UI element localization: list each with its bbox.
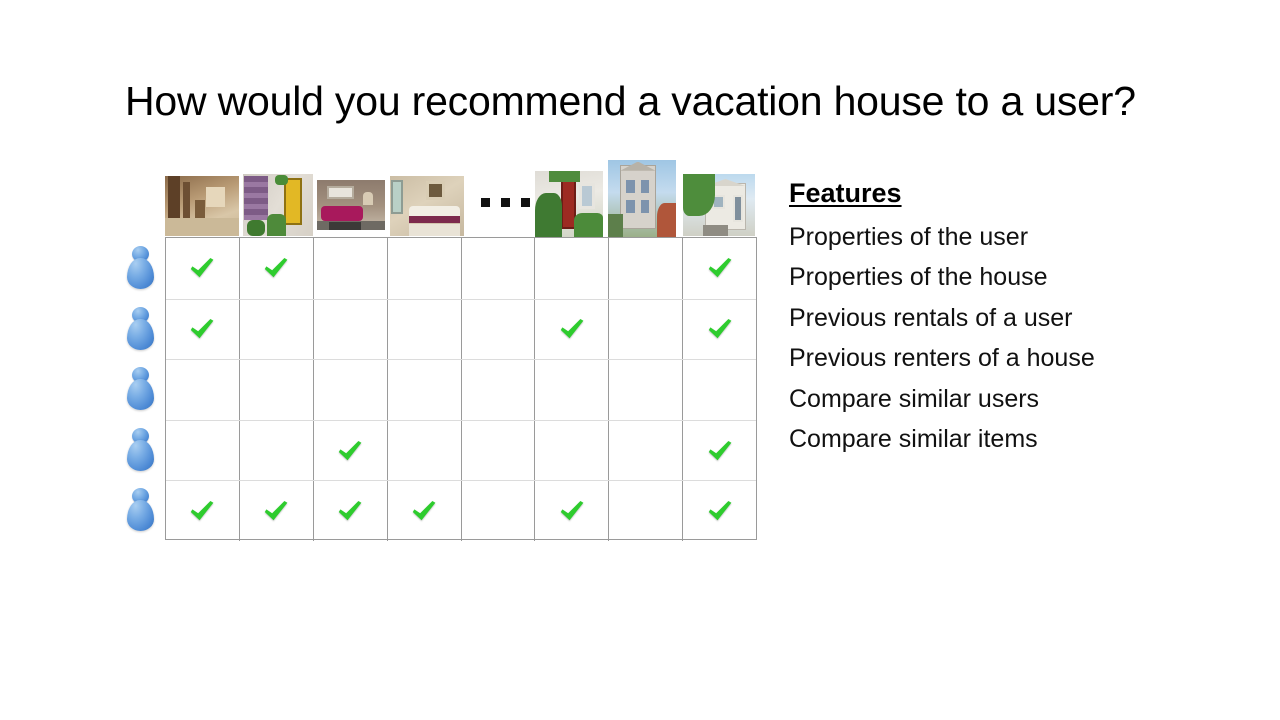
avatar-body bbox=[127, 258, 154, 289]
matrix-cell-r2c8[interactable] bbox=[682, 300, 756, 360]
matrix-cell-r4c4[interactable] bbox=[387, 421, 461, 481]
matrix-cell-r1c2[interactable] bbox=[239, 238, 313, 299]
user-avatar-icon-2 bbox=[124, 306, 157, 352]
matrix-cell-r2c5[interactable] bbox=[461, 300, 535, 360]
user-item-matrix bbox=[165, 237, 757, 540]
matrix-cell-r2c1[interactable] bbox=[166, 300, 239, 360]
matrix-cell-r5c5[interactable] bbox=[461, 481, 535, 541]
matrix-cell-r5c2[interactable] bbox=[239, 481, 313, 541]
matrix-cell-r3c7[interactable] bbox=[608, 360, 682, 420]
matrix-cell-r3c3[interactable] bbox=[313, 360, 387, 420]
matrix-cell-r4c7[interactable] bbox=[608, 421, 682, 481]
house-thumbnail-1 bbox=[165, 176, 239, 236]
user-avatar-icon-3 bbox=[124, 366, 157, 412]
check-icon bbox=[262, 254, 290, 282]
feature-item-6: Compare similar items bbox=[789, 419, 1209, 460]
matrix-cell-r2c7[interactable] bbox=[608, 300, 682, 360]
slide-canvas: How would you recommend a vacation house… bbox=[0, 0, 1280, 720]
feature-item-1: Properties of the user bbox=[789, 217, 1209, 258]
matrix-row-1 bbox=[166, 238, 756, 299]
matrix-cell-r5c8[interactable] bbox=[682, 481, 756, 541]
check-icon bbox=[188, 254, 216, 282]
check-icon bbox=[262, 497, 290, 525]
feature-item-3: Previous rentals of a user bbox=[789, 298, 1209, 339]
check-icon bbox=[336, 497, 364, 525]
avatar-body bbox=[127, 440, 154, 471]
check-icon bbox=[706, 315, 734, 343]
matrix-cell-r1c3[interactable] bbox=[313, 238, 387, 299]
ellipsis-dot bbox=[481, 198, 490, 207]
user-avatar-icon-5 bbox=[124, 487, 157, 533]
house-thumbnail-7 bbox=[683, 174, 755, 236]
matrix-cell-r3c4[interactable] bbox=[387, 360, 461, 420]
matrix-cell-r4c5[interactable] bbox=[461, 421, 535, 481]
matrix-cell-r2c6[interactable] bbox=[534, 300, 608, 360]
matrix-cell-r4c6[interactable] bbox=[534, 421, 608, 481]
check-icon bbox=[188, 497, 216, 525]
matrix-cell-r1c4[interactable] bbox=[387, 238, 461, 299]
matrix-cell-r1c5[interactable] bbox=[461, 238, 535, 299]
house-thumbnail-3 bbox=[317, 180, 385, 230]
page-title: How would you recommend a vacation house… bbox=[125, 78, 1165, 125]
matrix-row-2 bbox=[166, 299, 756, 360]
matrix-cell-r3c6[interactable] bbox=[534, 360, 608, 420]
check-icon bbox=[558, 315, 586, 343]
house-thumbnail-6 bbox=[608, 160, 676, 237]
matrix-cell-r3c5[interactable] bbox=[461, 360, 535, 420]
user-avatar-icon-1 bbox=[124, 245, 157, 291]
matrix-cell-r5c4[interactable] bbox=[387, 481, 461, 541]
matrix-cell-r3c8[interactable] bbox=[682, 360, 756, 420]
house-thumbnail-4 bbox=[390, 176, 464, 236]
ellipsis-dot bbox=[501, 198, 510, 207]
check-icon bbox=[188, 315, 216, 343]
matrix-cell-r3c1[interactable] bbox=[166, 360, 239, 420]
matrix-cell-r2c3[interactable] bbox=[313, 300, 387, 360]
check-icon bbox=[558, 497, 586, 525]
matrix-cell-r4c2[interactable] bbox=[239, 421, 313, 481]
matrix-cell-r1c7[interactable] bbox=[608, 238, 682, 299]
check-icon bbox=[706, 497, 734, 525]
matrix-cell-r4c1[interactable] bbox=[166, 421, 239, 481]
matrix-cell-r1c6[interactable] bbox=[534, 238, 608, 299]
matrix-cell-r2c4[interactable] bbox=[387, 300, 461, 360]
matrix-cell-r2c2[interactable] bbox=[239, 300, 313, 360]
matrix-cell-r4c8[interactable] bbox=[682, 421, 756, 481]
matrix-cell-r3c2[interactable] bbox=[239, 360, 313, 420]
user-avatar-icon-4 bbox=[124, 427, 157, 473]
check-icon bbox=[336, 437, 364, 465]
features-panel: Features Properties of the userPropertie… bbox=[789, 177, 1209, 460]
ellipsis-icon bbox=[481, 198, 530, 207]
house-thumbnail-2 bbox=[243, 174, 313, 236]
check-icon bbox=[706, 437, 734, 465]
features-heading: Features bbox=[789, 177, 1209, 211]
user-avatar-column bbox=[122, 237, 162, 540]
feature-item-5: Compare similar users bbox=[789, 379, 1209, 420]
matrix-cell-r1c1[interactable] bbox=[166, 238, 239, 299]
matrix-cell-r5c1[interactable] bbox=[166, 481, 239, 541]
check-icon bbox=[410, 497, 438, 525]
ellipsis-dot bbox=[521, 198, 530, 207]
avatar-body bbox=[127, 319, 154, 350]
matrix-cell-r5c3[interactable] bbox=[313, 481, 387, 541]
matrix-cell-r5c7[interactable] bbox=[608, 481, 682, 541]
matrix-row-3 bbox=[166, 359, 756, 420]
matrix-cell-r5c6[interactable] bbox=[534, 481, 608, 541]
avatar-body bbox=[127, 500, 154, 531]
matrix-cell-r4c3[interactable] bbox=[313, 421, 387, 481]
avatar-body bbox=[127, 379, 154, 410]
matrix-cell-r1c8[interactable] bbox=[682, 238, 756, 299]
check-icon bbox=[706, 254, 734, 282]
feature-item-4: Previous renters of a house bbox=[789, 338, 1209, 379]
house-thumbnail-5 bbox=[535, 171, 603, 237]
feature-item-2: Properties of the house bbox=[789, 257, 1209, 298]
matrix-row-5 bbox=[166, 480, 756, 541]
matrix-row-4 bbox=[166, 420, 756, 481]
features-list: Properties of the userProperties of the … bbox=[789, 217, 1209, 460]
house-thumbnail-strip bbox=[165, 160, 765, 238]
